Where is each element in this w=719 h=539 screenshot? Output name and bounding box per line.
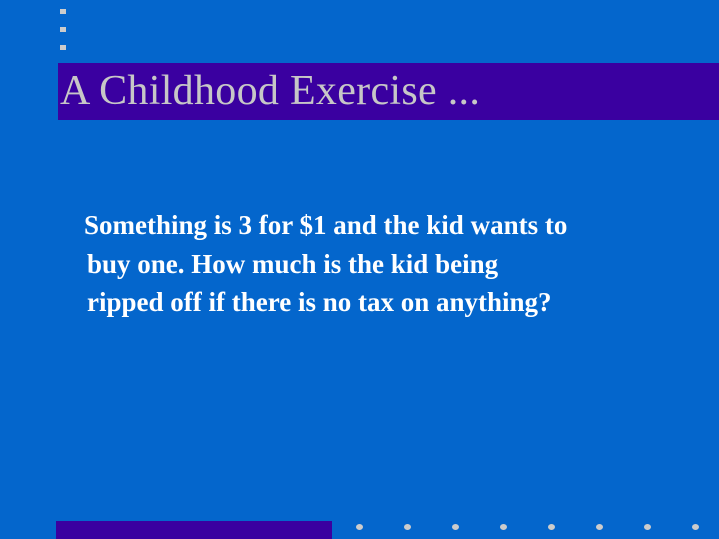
footer-dot-icon bbox=[692, 524, 699, 530]
body-line: ripped off if there is no tax on anythin… bbox=[87, 283, 684, 322]
top-dot-column bbox=[60, 9, 70, 55]
footer-bar bbox=[56, 521, 332, 539]
footer-dot-icon bbox=[452, 524, 459, 530]
footer-dot-icon bbox=[596, 524, 603, 530]
slide-canvas: A Childhood Exercise ... Something is 3 … bbox=[0, 0, 719, 539]
body-line: buy one. How much is the kid being bbox=[87, 245, 684, 284]
slide-title: A Childhood Exercise ... bbox=[60, 62, 700, 120]
footer-dot-icon bbox=[500, 524, 507, 530]
slide-body: Something is 3 for $1 and the kid wants … bbox=[84, 206, 684, 322]
bullet-dot-icon bbox=[60, 9, 66, 14]
footer-dot-icon bbox=[356, 524, 363, 530]
bullet-dot-icon bbox=[60, 45, 66, 50]
footer-dot-icon bbox=[548, 524, 555, 530]
body-line: Something is 3 for $1 and the kid wants … bbox=[84, 206, 684, 245]
footer-dot-icon bbox=[644, 524, 651, 530]
footer-dot-icon bbox=[404, 524, 411, 530]
footer-dot-row bbox=[356, 524, 699, 534]
bullet-dot-icon bbox=[60, 27, 66, 32]
